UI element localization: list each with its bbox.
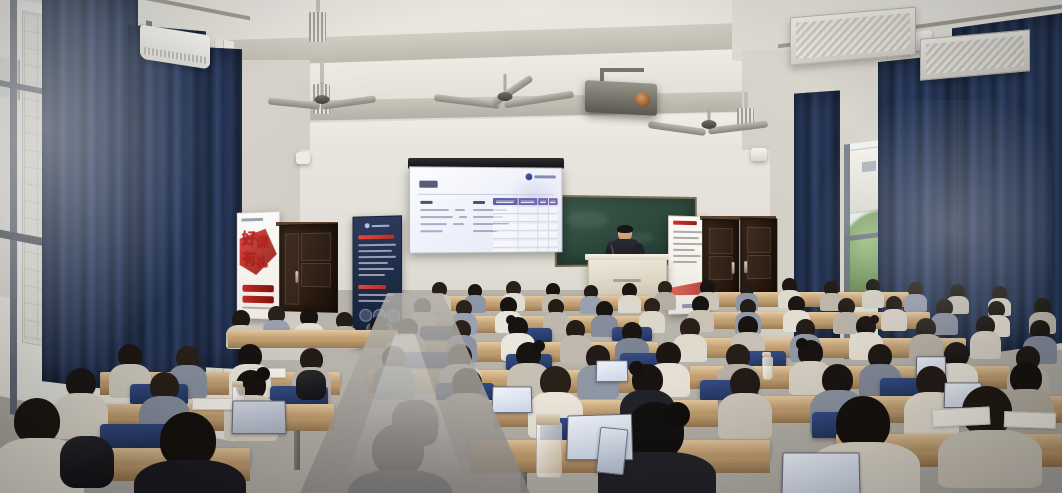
smartphone[interactable] xyxy=(596,427,629,476)
bottle-cap xyxy=(232,381,243,387)
water-bottle[interactable] xyxy=(536,422,562,478)
ceiling-fan-right xyxy=(652,108,766,144)
slide-logo xyxy=(526,173,556,180)
banner-red-poster: 好 课 有 礼 xyxy=(237,211,280,320)
backpack xyxy=(296,370,326,400)
notebook-paper xyxy=(932,406,991,427)
water-bottle[interactable] xyxy=(762,356,773,380)
classroom-photo: 好 课 有 礼 xyxy=(0,0,1062,493)
microphone-icon xyxy=(608,241,613,246)
slide-text-column-left xyxy=(410,167,561,168)
projector-bracket xyxy=(600,68,644,72)
notebook-paper xyxy=(1004,411,1057,429)
curtain-left[interactable] xyxy=(42,0,138,393)
slide-text-column-middle xyxy=(410,167,561,168)
wall-speaker-front-right xyxy=(751,148,767,161)
wall-speaker-front-left xyxy=(296,152,310,164)
pendant-light-center xyxy=(309,12,326,42)
podium-surface xyxy=(585,254,669,260)
ceiling-projector xyxy=(585,80,657,116)
bottle-cap xyxy=(536,414,560,425)
slide-content xyxy=(410,167,561,252)
backpack xyxy=(60,436,114,488)
ceiling-fan-center xyxy=(440,74,570,116)
bottle-cap xyxy=(762,352,771,357)
notebook-paper xyxy=(192,398,236,410)
curtain-left[interactable] xyxy=(128,25,206,392)
slide-title xyxy=(419,181,437,188)
projection-screen xyxy=(409,166,562,253)
ceiling-fan-left xyxy=(272,82,372,116)
door-left[interactable] xyxy=(279,223,338,313)
slide-divider xyxy=(418,194,554,195)
slide-table xyxy=(493,198,558,254)
